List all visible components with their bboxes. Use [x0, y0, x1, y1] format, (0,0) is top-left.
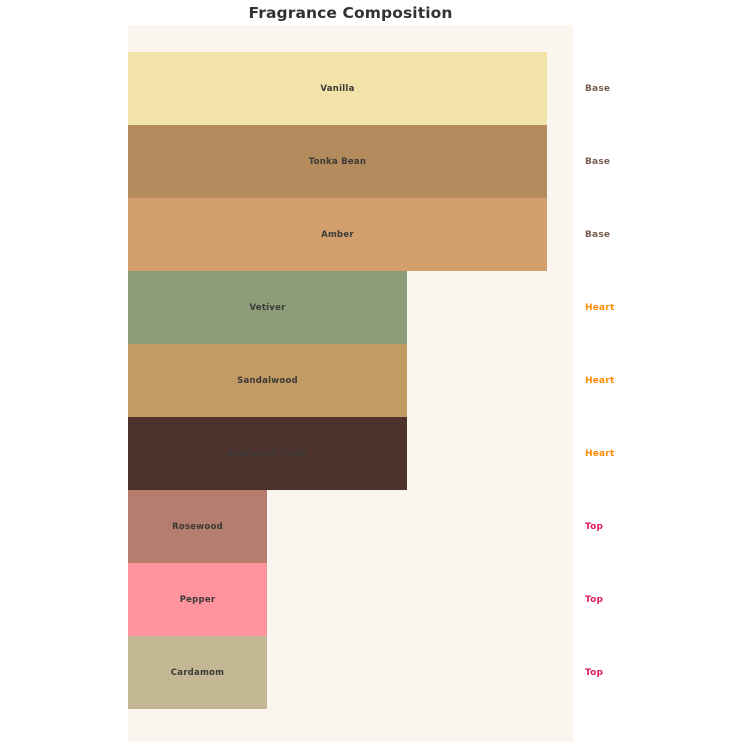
note-family-label-top: Top [585, 490, 603, 563]
bar-rect [128, 271, 407, 344]
note-family-label-base: Base [585, 198, 610, 271]
bar-agarwood-oud[interactable]: Agarwood (Oud) [128, 417, 407, 490]
fragrance-composition-figure: Fragrance Composition VanillaTonka BeanA… [0, 0, 746, 746]
note-family-label-heart: Heart [585, 271, 614, 344]
note-family-label-base: Base [585, 125, 610, 198]
bar-tonka-bean[interactable]: Tonka Bean [128, 125, 547, 198]
note-family-label-heart: Heart [585, 417, 614, 490]
bar-amber[interactable]: Amber [128, 198, 547, 271]
note-family-label-top: Top [585, 563, 603, 636]
bar-cardamom[interactable]: Cardamom [128, 636, 267, 709]
bar-rect [128, 563, 267, 636]
bar-pepper[interactable]: Pepper [128, 563, 267, 636]
bar-rect [128, 344, 407, 417]
bar-sandalwood[interactable]: Sandalwood [128, 344, 407, 417]
plot-area: VanillaTonka BeanAmberVetiverSandalwoodA… [128, 25, 573, 742]
note-family-label-heart: Heart [585, 344, 614, 417]
bar-rect [128, 636, 267, 709]
bar-rect [128, 490, 267, 563]
bar-rosewood[interactable]: Rosewood [128, 490, 267, 563]
bar-vanilla[interactable]: Vanilla [128, 52, 547, 125]
note-family-label-base: Base [585, 52, 610, 125]
bar-vetiver[interactable]: Vetiver [128, 271, 407, 344]
bar-rect [128, 198, 547, 271]
bar-rect [128, 417, 407, 490]
chart-title: Fragrance Composition [128, 2, 573, 25]
note-family-label-top: Top [585, 636, 603, 709]
bar-rect [128, 125, 547, 198]
bar-rect [128, 52, 547, 125]
